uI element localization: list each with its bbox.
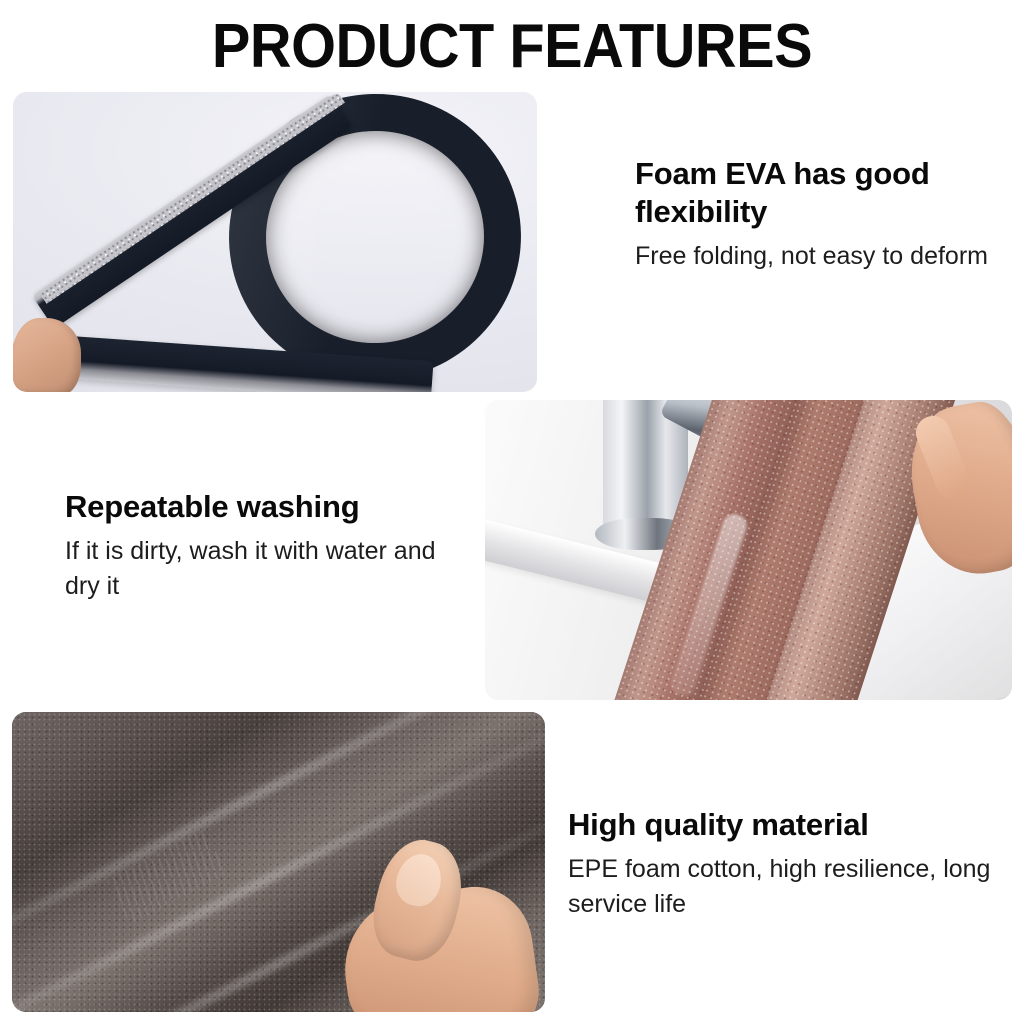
feature-block-repeatable-washing: Repeatable washing If it is dirty, wash … [65,488,465,604]
feature-heading: Repeatable washing [65,488,465,526]
foam-loop-ring [213,92,537,392]
product-features-infographic: PRODUCT FEATURES [0,0,1024,1024]
hand-holding-foam [13,318,81,392]
feature-heading: Foam EVA has good flexibility [635,155,1007,231]
feature-body: If it is dirty, wash it with water and d… [65,534,465,604]
eva-foam-strip [27,92,527,392]
feature-heading: High quality material [568,806,1010,844]
page-title: PRODUCT FEATURES [36,13,988,81]
washing-under-tap-photo [485,400,1012,700]
epe-foam-texture-photo [12,712,545,1012]
feature-block-high-quality-material: High quality material EPE foam cotton, h… [568,806,1010,922]
feature-body: EPE foam cotton, high resilience, long s… [568,852,1010,922]
feature-body: Free folding, not easy to deform [635,239,1007,274]
feature-block-foam-eva-flexibility: Foam EVA has good flexibility Free foldi… [635,155,1007,274]
eva-foam-loop-photo [13,92,537,392]
